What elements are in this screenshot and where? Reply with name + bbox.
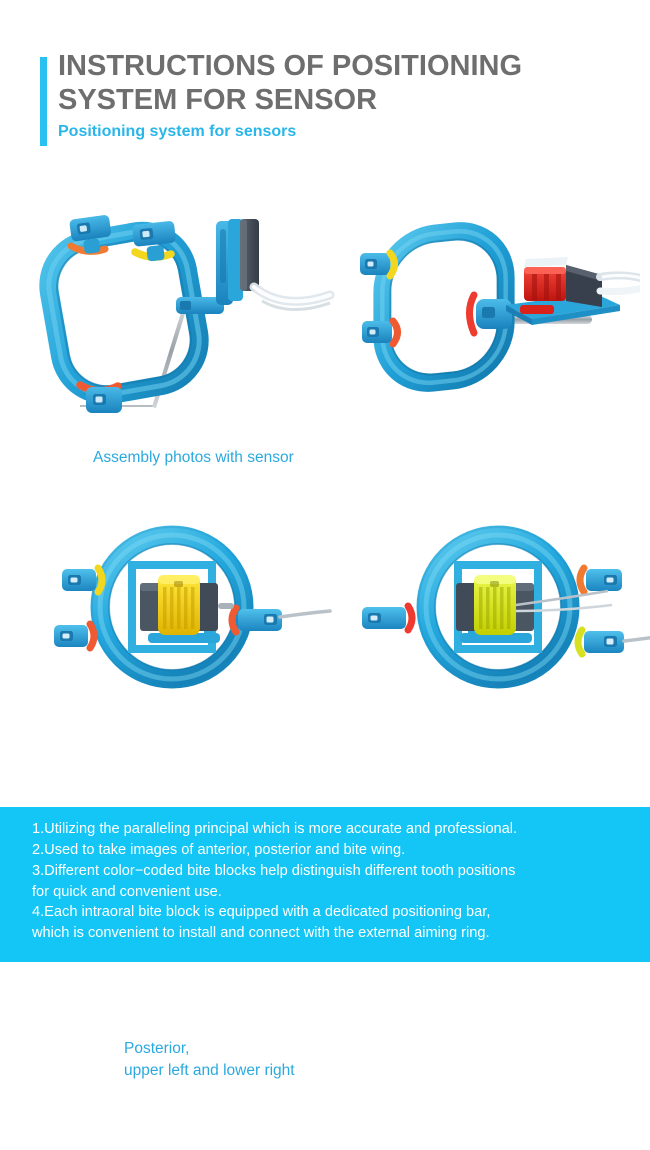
- gallery-item-assembly-with-sensor: Assembly photos with sensor: [36, 195, 336, 440]
- gallery-caption: Posterior, upper left and lower right: [124, 1038, 295, 1083]
- assembly-with-sensor-illustration: [36, 195, 336, 440]
- posterior-upper-left-lower-right-illustration: [44, 515, 344, 710]
- bite-wing-illustration: [348, 213, 640, 428]
- gallery-item-posterior-lower-left-upper-right: Posterior, lower left and upper right: [356, 515, 650, 710]
- features-panel: 1.Utilizing the paralleling principal wh…: [0, 807, 650, 962]
- title-block: INSTRUCTIONS OF POSITIONING SYSTEM FOR S…: [58, 50, 628, 141]
- gallery-item-posterior-upper-left-lower-right: Posterior, upper left and lower right: [44, 515, 344, 710]
- page-subtitle: Positioning system for sensors: [58, 122, 628, 141]
- page-title: INSTRUCTIONS OF POSITIONING SYSTEM FOR S…: [58, 50, 628, 118]
- footer-whitespace: [0, 962, 650, 1024]
- product-gallery: Assembly photos with sensor: [0, 195, 650, 795]
- feature-line-2: 2.Used to take images of anterior, poste…: [32, 840, 628, 861]
- accent-bar: [40, 57, 47, 146]
- gallery-caption: Assembly photos with sensor: [93, 447, 294, 469]
- header: INSTRUCTIONS OF POSITIONING SYSTEM FOR S…: [0, 50, 650, 150]
- feature-line-3: 3.Different color−coded bite blocks help…: [32, 861, 628, 903]
- infographic-page: INSTRUCTIONS OF POSITIONING SYSTEM FOR S…: [0, 0, 650, 1024]
- feature-line-1: 1.Utilizing the paralleling principal wh…: [32, 819, 628, 840]
- posterior-lower-left-upper-right-illustration: [356, 515, 650, 710]
- feature-line-4: 4.Each intraoral bite block is equipped …: [32, 902, 628, 944]
- gallery-item-bite-wing: Bite wing: [348, 213, 640, 428]
